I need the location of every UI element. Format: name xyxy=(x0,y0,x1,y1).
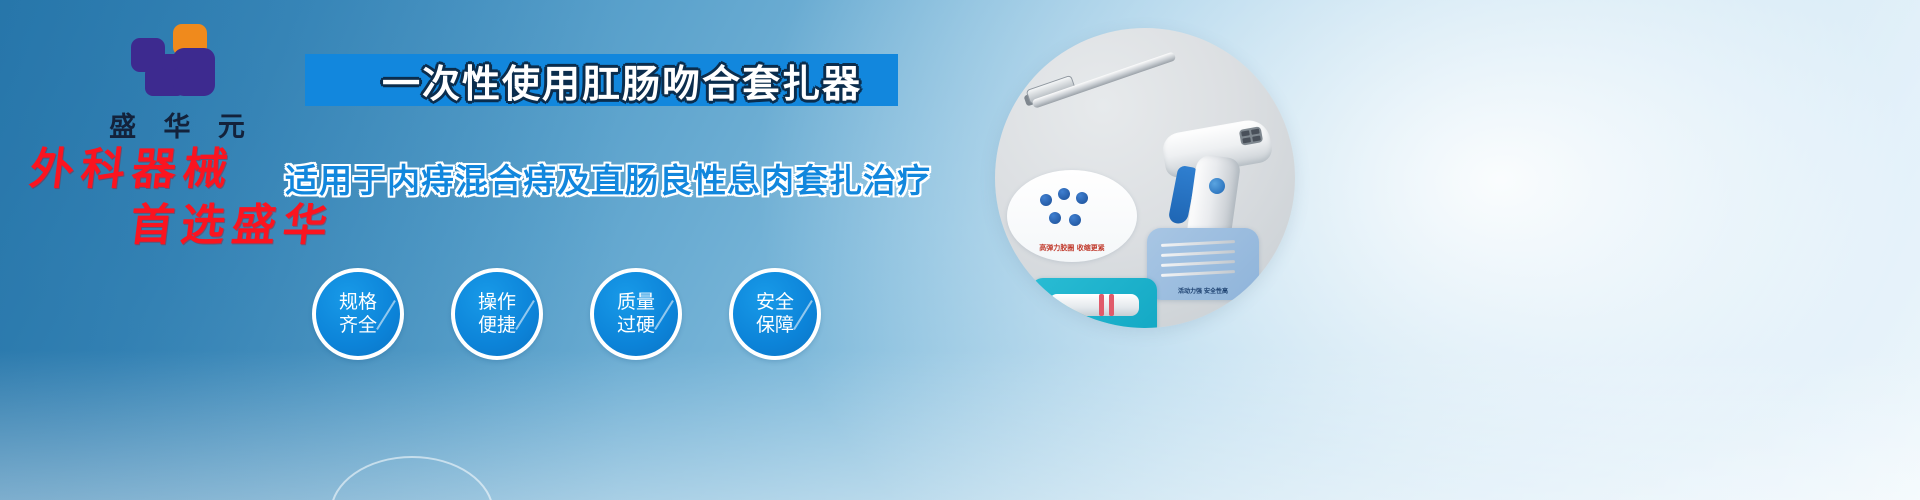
rubber-band-icon xyxy=(1040,194,1052,206)
brand-logo[interactable]: 盛 华 元 xyxy=(62,24,292,134)
feature-badge-1-line2: 便捷 xyxy=(478,314,516,337)
needle-icon xyxy=(1161,250,1235,257)
bottom-light-overlay xyxy=(0,350,1920,500)
cartridge-ring-icon xyxy=(1099,294,1104,316)
decorative-arc xyxy=(330,456,494,500)
product-subtitle: 适用于内痔混合痔及直肠良性息肉套扎治疗 xyxy=(298,155,918,201)
feature-badge-0-line1: 规格 xyxy=(339,291,377,314)
feature-badge-3[interactable]: 安全 保障 xyxy=(729,268,821,360)
inset-rubber-bands: 高弹力胶圈 收缩更紧 xyxy=(1007,170,1137,262)
promo-banner: 盛 华 元 外科器械 首选盛华 一次性使用肛肠吻合套扎器 适用于内痔混合痔及直肠… xyxy=(0,0,1920,500)
slash-decor-icon xyxy=(376,300,396,330)
brand-name: 盛 华 元 xyxy=(62,105,292,144)
product-title: 一次性使用肛肠吻合套扎器 xyxy=(322,52,922,108)
calligraphy-line-2: 首选盛华 xyxy=(17,204,382,248)
rubber-band-icon xyxy=(1076,192,1088,204)
feature-badge-3-line1: 安全 xyxy=(756,291,794,314)
inset-needles: 活动力强 安全性高 xyxy=(1147,228,1259,300)
needle-icon xyxy=(1161,240,1235,247)
product-photo-circle: 高弹力胶圈 收缩更紧 活动力强 安全性高 xyxy=(995,28,1295,328)
rubber-band-icon xyxy=(1058,188,1070,200)
feature-badge-3-line2: 保障 xyxy=(756,314,794,337)
logo-mark-icon xyxy=(131,24,223,98)
inset-rubber-bands-caption: 高弹力胶圈 收缩更紧 xyxy=(1007,243,1137,253)
feature-badge-2-line1: 质量 xyxy=(617,291,655,314)
feature-badge-1[interactable]: 操作 便捷 xyxy=(451,268,543,360)
feature-badge-2-line2: 过硬 xyxy=(617,314,655,337)
feature-badge-0-line2: 齐全 xyxy=(339,314,377,337)
logo-block-center xyxy=(162,54,178,70)
cartridge-tip xyxy=(1041,298,1053,312)
logo-block-right xyxy=(173,48,215,96)
cartridge-ring-icon xyxy=(1109,294,1114,316)
feature-badges: 规格 齐全 操作 便捷 质量 过硬 安全 保障 xyxy=(312,268,872,368)
slash-decor-icon xyxy=(654,300,674,330)
rubber-band-icon xyxy=(1069,214,1081,226)
slash-decor-icon xyxy=(793,300,813,330)
slash-decor-icon xyxy=(515,300,535,330)
cartridge-icon xyxy=(1049,294,1139,316)
rubber-band-icon xyxy=(1049,212,1061,224)
device-knob xyxy=(1209,178,1225,194)
inset-needles-caption: 活动力强 安全性高 xyxy=(1147,286,1259,295)
feature-badge-0[interactable]: 规格 齐全 xyxy=(312,268,404,360)
rubber-band-group-icon xyxy=(1040,188,1104,232)
feature-badge-2[interactable]: 质量 过硬 xyxy=(590,268,682,360)
needle-icon xyxy=(1161,270,1235,277)
feature-badge-1-line1: 操作 xyxy=(478,291,516,314)
needle-icon xyxy=(1161,260,1235,267)
inset-cartridge xyxy=(1031,278,1157,328)
